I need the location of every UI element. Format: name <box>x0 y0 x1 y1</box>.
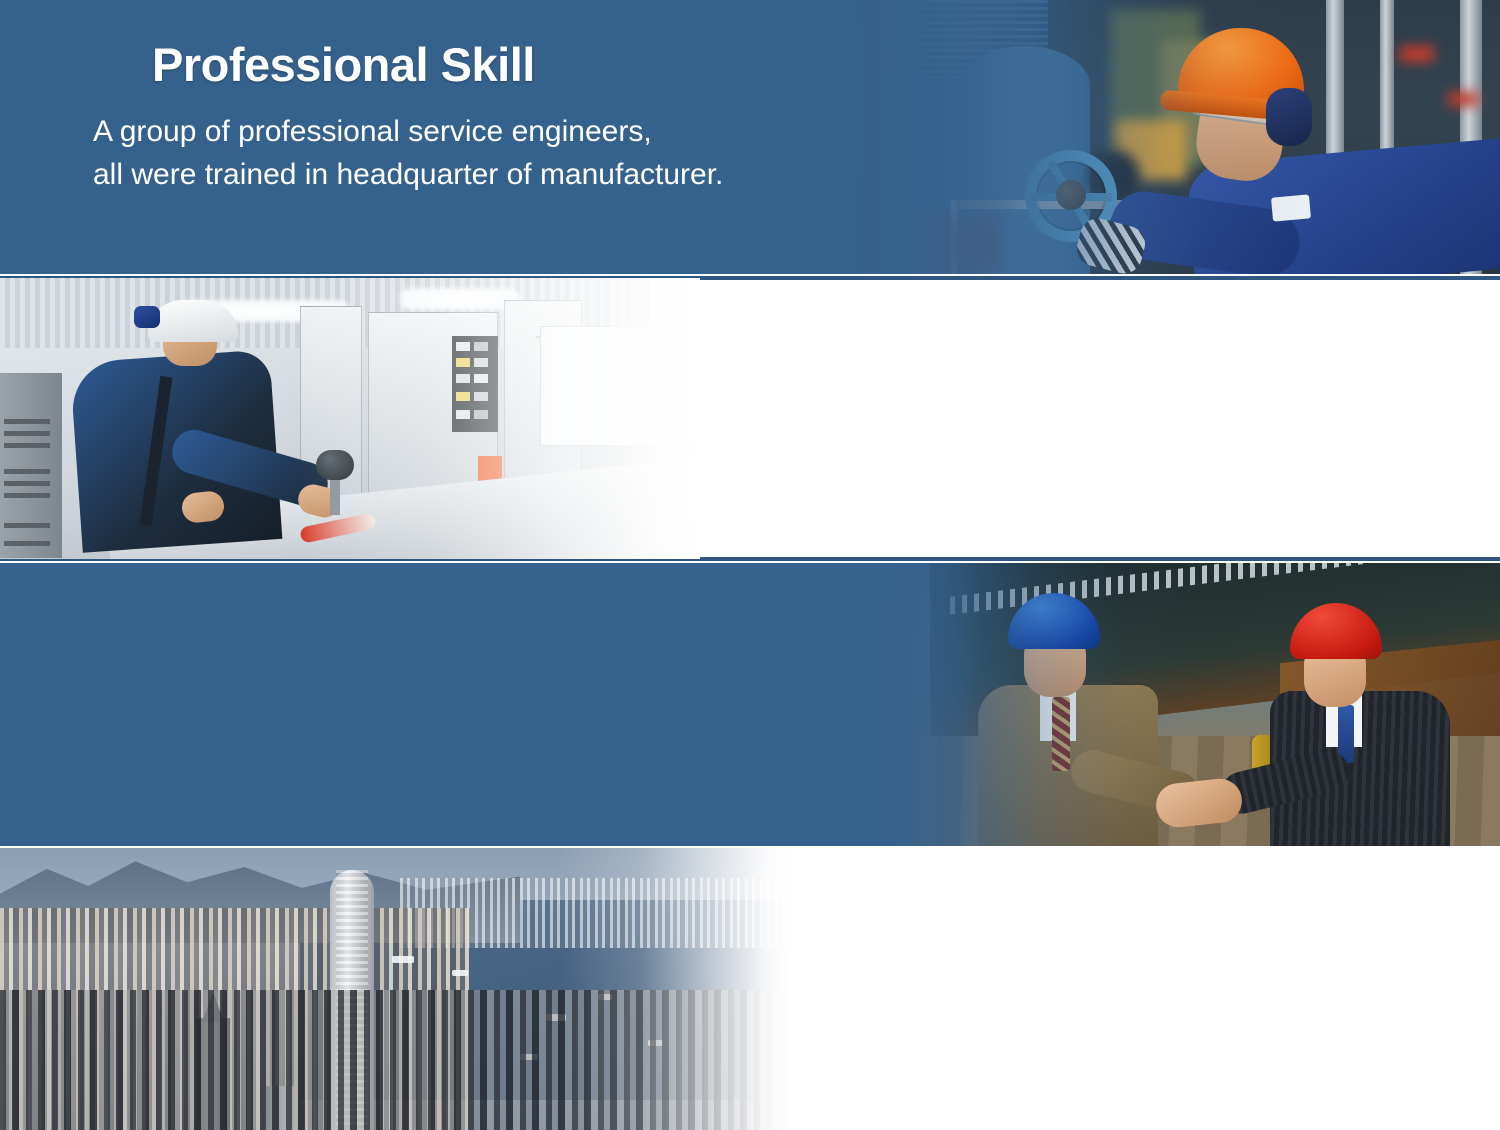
photo-hong-kong-harbour <box>0 848 790 1130</box>
section-rich-experience: Rich Experience Eighteen years technical… <box>0 276 1500 561</box>
body-line-1: A group of professional service engineer… <box>93 110 723 153</box>
section-trans-region-service: Trans-region Service 7×24 hours all-time… <box>0 848 1500 1130</box>
section-professional-skill: Professional Skill A group of profession… <box>0 0 1500 274</box>
service-advantages-page: Professional Skill A group of profession… <box>0 0 1500 1130</box>
photo-engine-control-room <box>0 278 700 559</box>
heading-professional-skill: Professional Skill <box>152 36 723 94</box>
section-good-reputation: Good Reputation Possess a long-term stab… <box>0 563 1500 846</box>
text-block-professional-skill: Professional Skill A group of profession… <box>152 36 723 196</box>
body-line-2: all were trained in headquarter of manuf… <box>93 153 723 196</box>
blue-overlay-row3 <box>0 563 1500 846</box>
